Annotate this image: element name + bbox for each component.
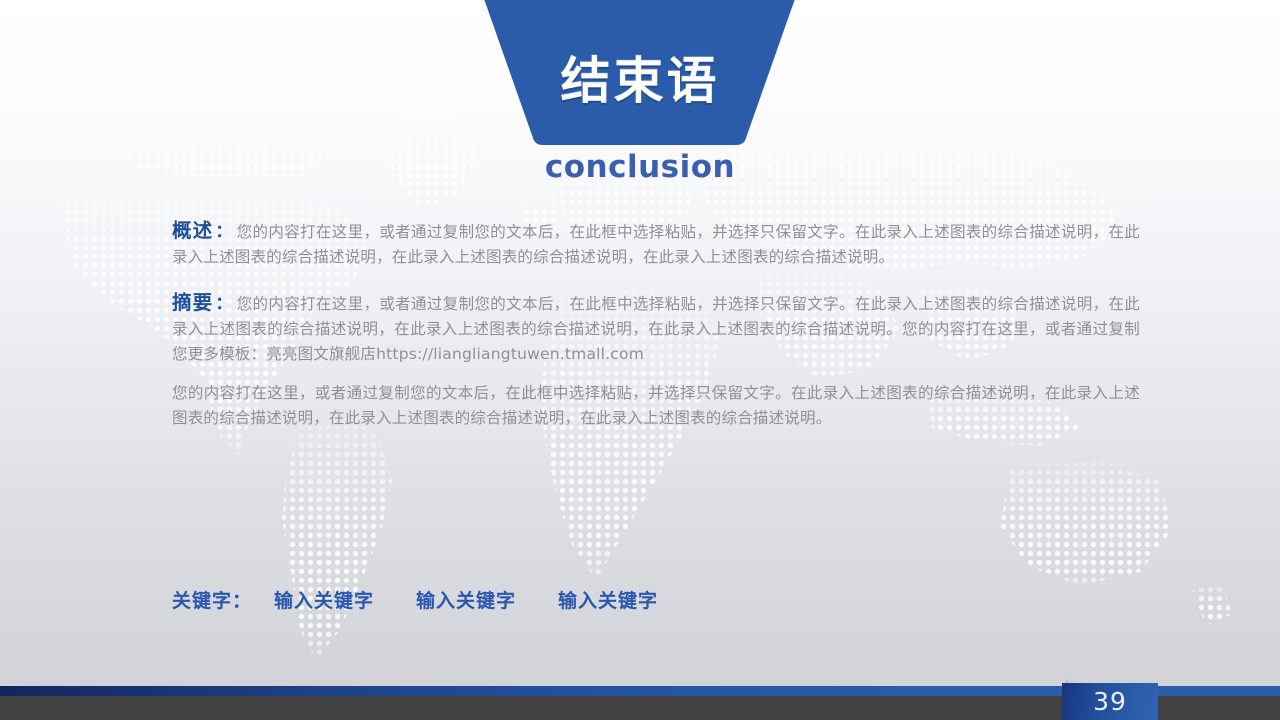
keywords-row: 关键字：输入关键字输入关键字输入关键字 bbox=[172, 586, 658, 613]
keyword-item-1[interactable]: 输入关键字 bbox=[274, 590, 374, 612]
slide-title-en: conclusion bbox=[0, 152, 1280, 183]
overview-paragraph: 概述：您的内容打在这里，或者通过复制您的文本后，在此框中选择粘贴，并选择只保留文… bbox=[172, 218, 1140, 270]
slide-canvas: 结束语 conclusion 概述：您的内容打在这里，或者通过复制您的文本后，在… bbox=[0, 0, 1280, 720]
banner-trapezoid-shape bbox=[0, 0, 1280, 145]
title-banner: 结束语 bbox=[0, 0, 1280, 145]
summary-label: 摘要 bbox=[172, 291, 213, 314]
summary-url[interactable]: https://liangliangtuwen.tmall.com bbox=[376, 345, 644, 363]
overview-label: 概述 bbox=[172, 219, 213, 242]
overview-text: 您的内容打在这里，或者通过复制您的文本后，在此框中选择粘贴，并选择只保留文字。在… bbox=[172, 223, 1140, 266]
keywords-label: 关键字： bbox=[172, 590, 252, 612]
summary-colon: ： bbox=[213, 294, 236, 314]
overview-block: 概述：您的内容打在这里，或者通过复制您的文本后，在此框中选择粘贴，并选择只保留文… bbox=[172, 218, 1140, 270]
content-body: 概述：您的内容打在这里，或者通过复制您的文本后，在此框中选择粘贴，并选择只保留文… bbox=[172, 218, 1140, 451]
keyword-item-3[interactable]: 输入关键字 bbox=[558, 590, 658, 612]
overview-colon: ： bbox=[213, 222, 236, 242]
summary-text: 您的内容打在这里，或者通过复制您的文本后，在此框中选择粘贴，并选择只保留文字。在… bbox=[172, 295, 1140, 363]
summary-block: 摘要：您的内容打在这里，或者通过复制您的文本后，在此框中选择粘贴，并选择只保留文… bbox=[172, 290, 1140, 431]
summary-paragraph: 摘要：您的内容打在这里，或者通过复制您的文本后，在此框中选择粘贴，并选择只保留文… bbox=[172, 290, 1140, 367]
keyword-item-2[interactable]: 输入关键字 bbox=[416, 590, 516, 612]
page-number-badge: 39 bbox=[1062, 683, 1158, 720]
extra-paragraph: 您的内容打在这里，或者通过复制您的文本后，在此框中选择粘贴，并选择只保留文字。在… bbox=[172, 381, 1140, 431]
slide-title-cn: 结束语 bbox=[0, 56, 1280, 106]
